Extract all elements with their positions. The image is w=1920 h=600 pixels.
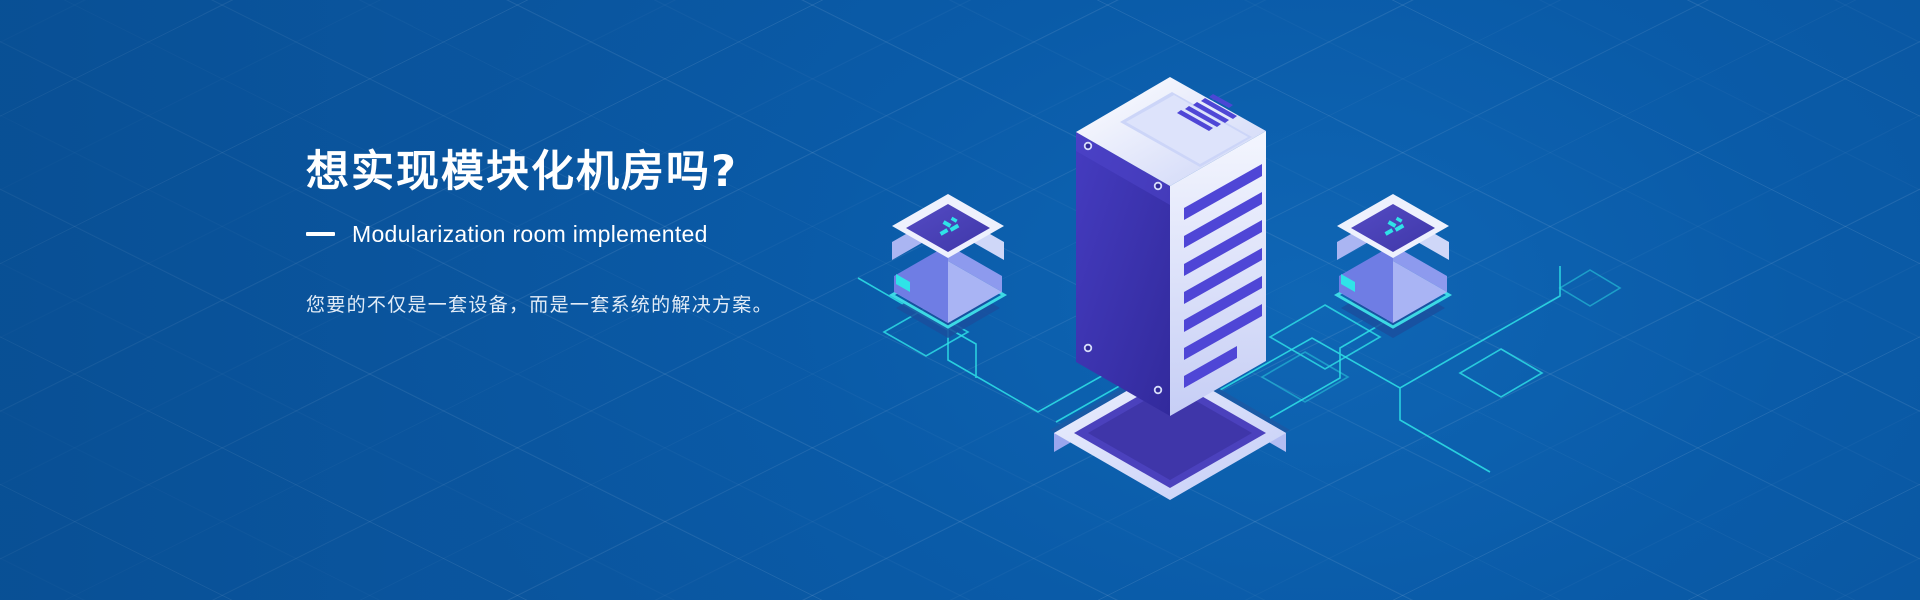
isometric-server-illustration [800, 60, 1620, 460]
server-tower [1050, 77, 1290, 500]
server-body [1076, 77, 1266, 416]
chip-module-left [892, 194, 1004, 338]
dash-divider-icon [306, 232, 335, 236]
chip-module-right [1337, 194, 1449, 338]
hero-banner: 想实现模块化机房吗? Modularization room implement… [0, 0, 1920, 600]
banner-subtitle: Modularization room implemented [352, 221, 708, 248]
